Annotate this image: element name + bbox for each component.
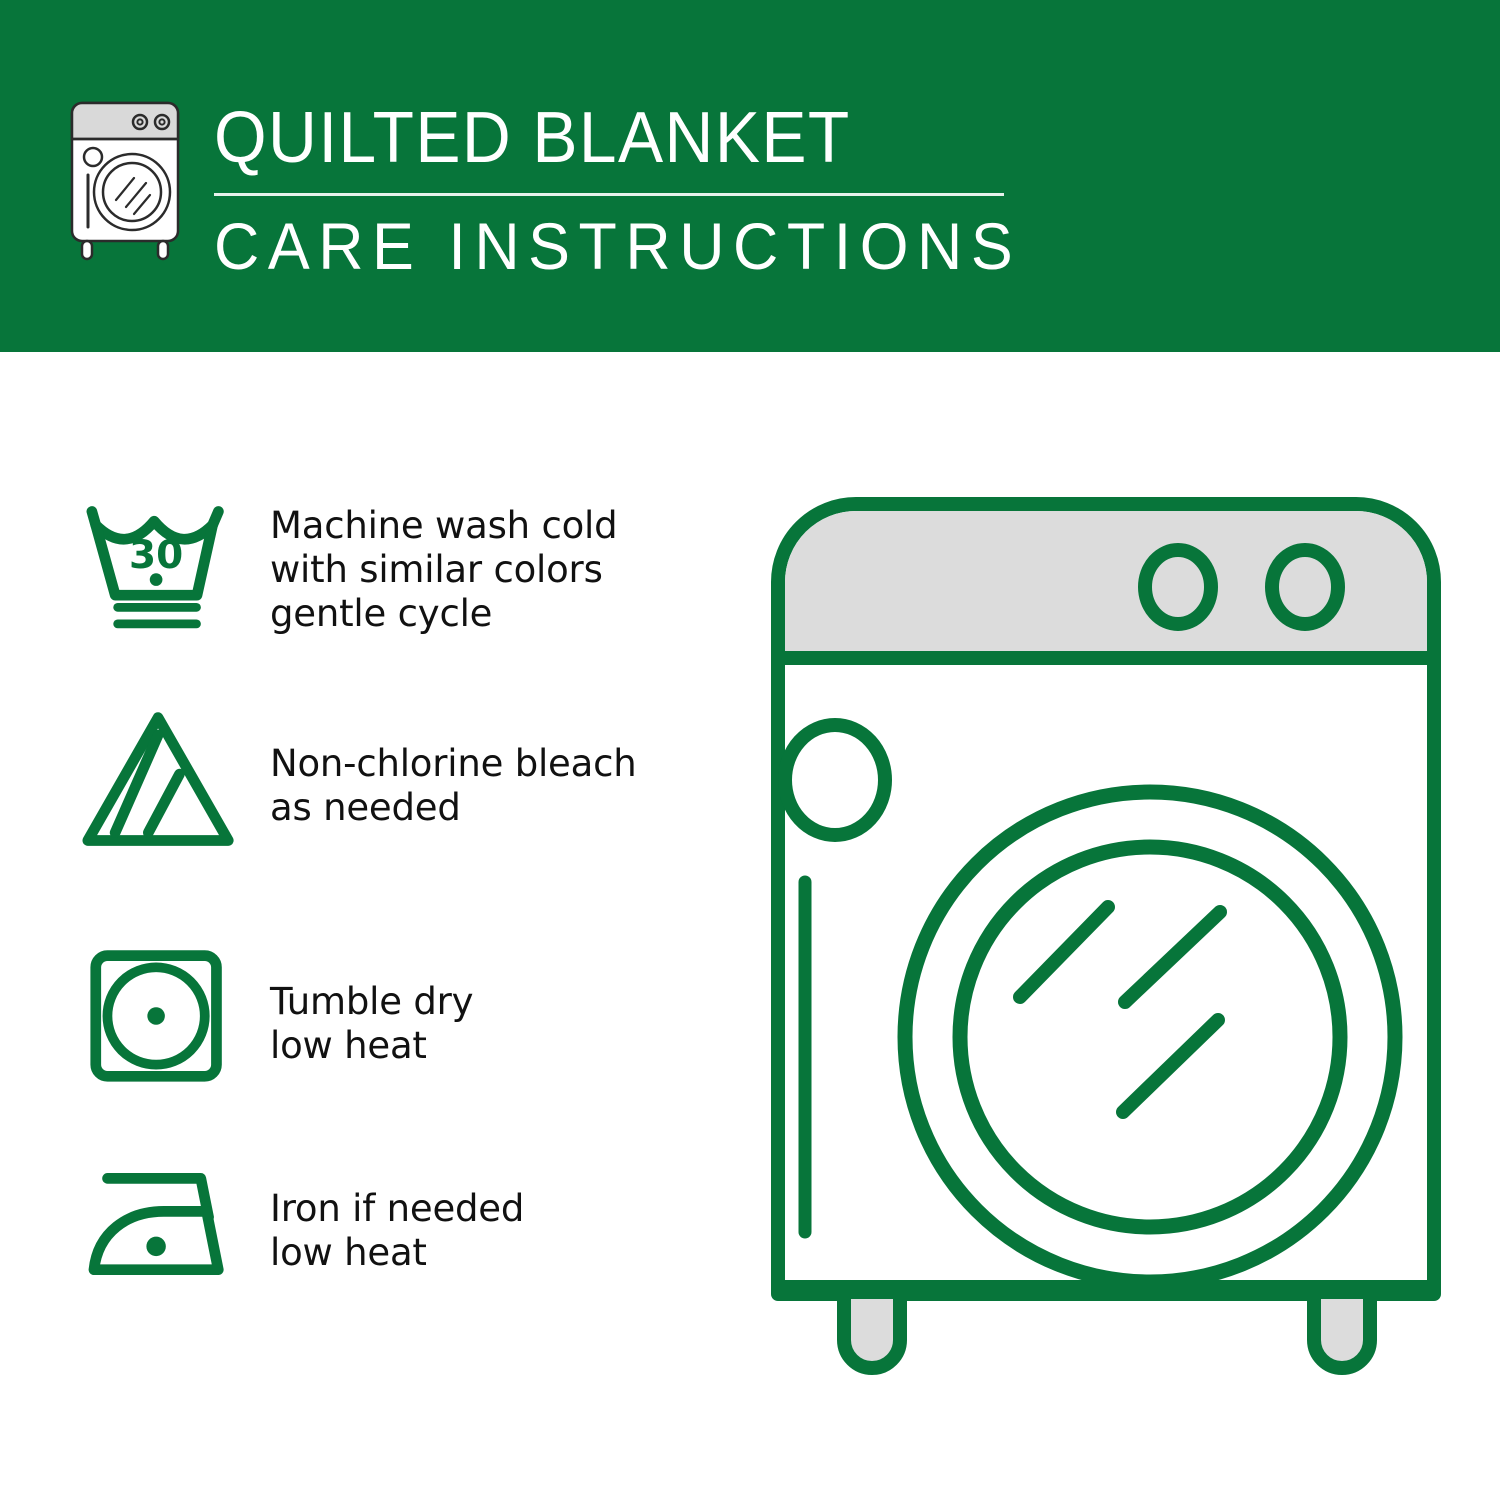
care-text-line: as needed bbox=[270, 786, 710, 830]
care-text-line: low heat bbox=[270, 1024, 710, 1068]
care-text-line: with similar colors bbox=[270, 548, 710, 592]
header-banner: QUILTED BLANKET CARE INSTRUCTIONS bbox=[0, 0, 1500, 352]
iron-low-heat-icon bbox=[70, 1157, 250, 1293]
care-text-line: low heat bbox=[270, 1231, 710, 1275]
care-text-line: Iron if needed bbox=[270, 1187, 710, 1231]
care-row-bleach: Non-chlorine bleach as needed bbox=[70, 702, 710, 942]
care-text-tumble-dry: Tumble dry low heat bbox=[250, 942, 710, 1068]
wash-temp-label: 30 bbox=[129, 533, 183, 578]
washing-machine-icon bbox=[60, 95, 190, 265]
care-row-iron: Iron if needed low heat bbox=[70, 1157, 710, 1337]
page-subtitle: CARE INSTRUCTIONS bbox=[214, 210, 1021, 282]
leg-right bbox=[1314, 1292, 1370, 1368]
care-text-iron: Iron if needed low heat bbox=[250, 1157, 710, 1275]
care-text-line: Tumble dry bbox=[270, 980, 710, 1024]
header-content: QUILTED BLANKET CARE INSTRUCTIONS bbox=[60, 95, 1064, 282]
care-instruction-list: 30 Machine wash cold with similar colors… bbox=[70, 492, 710, 1337]
care-text-line: Machine wash cold bbox=[270, 504, 710, 548]
care-text-line: gentle cycle bbox=[270, 592, 710, 636]
care-row-tumble-dry: Tumble dry low heat bbox=[70, 942, 710, 1157]
care-row-wash: 30 Machine wash cold with similar colors… bbox=[70, 492, 710, 702]
title-block: QUILTED BLANKET CARE INSTRUCTIONS bbox=[214, 95, 1064, 282]
washing-machine-illustration bbox=[740, 492, 1470, 1422]
tumble-dry-low-heat-icon bbox=[70, 942, 250, 1088]
care-instructions-page: QUILTED BLANKET CARE INSTRUCTIONS 30 bbox=[0, 0, 1500, 1500]
page-title: QUILTED BLANKET bbox=[214, 99, 1013, 177]
non-chlorine-bleach-triangle-icon bbox=[70, 702, 250, 858]
title-divider bbox=[214, 193, 1004, 196]
care-text-wash: Machine wash cold with similar colors ge… bbox=[250, 492, 710, 636]
leg-left bbox=[844, 1292, 900, 1368]
main-content: 30 Machine wash cold with similar colors… bbox=[0, 352, 1500, 1500]
care-text-line: Non-chlorine bleach bbox=[270, 742, 710, 786]
wash-tub-30-gentle-icon: 30 bbox=[70, 492, 250, 638]
care-text-bleach: Non-chlorine bleach as needed bbox=[250, 702, 710, 830]
